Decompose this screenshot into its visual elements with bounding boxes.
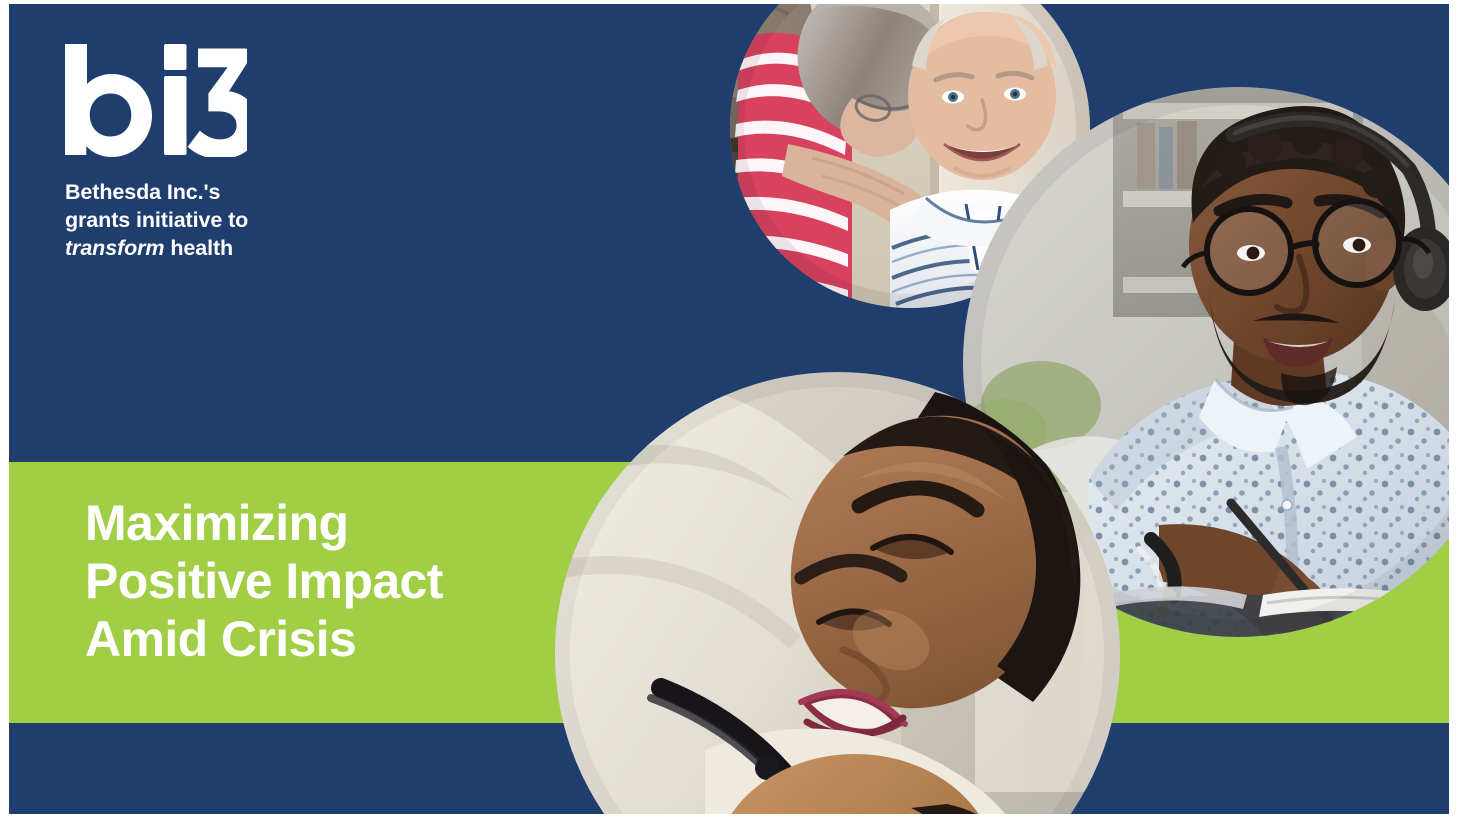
- slide-title-line-3: Amid Crisis: [85, 610, 555, 668]
- bi3-tagline-line-1: Bethesda Inc.'s: [65, 179, 395, 207]
- slide-title-line-2: Positive Impact: [85, 552, 555, 610]
- bi3-tagline-line-3: transform health: [65, 235, 395, 263]
- bi3-wordmark-icon: [65, 44, 247, 157]
- slide-canvas: Bethesda Inc.'s grants initiative to tra…: [9, 4, 1449, 814]
- bi3-tagline-line-3-rest: health: [164, 236, 233, 260]
- bi3-tagline-line-2: grants initiative to: [65, 207, 395, 235]
- bi3-logo: Bethesda Inc.'s grants initiative to tra…: [65, 44, 395, 263]
- slide-title-line-1: Maximizing: [85, 494, 555, 552]
- bi3-tagline: Bethesda Inc.'s grants initiative to tra…: [65, 179, 395, 263]
- slide-title: Maximizing Positive Impact Amid Crisis: [85, 494, 555, 668]
- bi3-tagline-emphasis: transform: [65, 236, 164, 260]
